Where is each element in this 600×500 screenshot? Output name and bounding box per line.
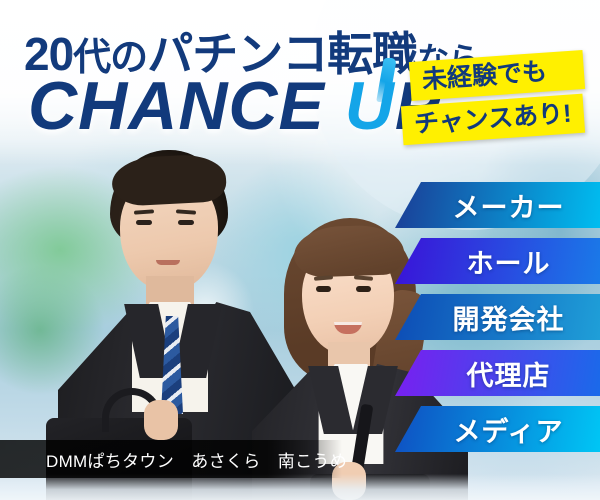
man-mouth [156, 260, 180, 265]
pachinko-career-banner: 20代のパチンコ転職なら CHANCE UP 未経験でも チャンスあり! メーカ… [0, 0, 600, 500]
credit-text: DMMぱちタウン あさくら 南こうめ [0, 447, 347, 472]
category-label-hall: ホール [467, 242, 551, 281]
woman-eye-left [316, 286, 331, 292]
category-button-agency[interactable]: 代理店 [395, 350, 600, 396]
category-button-developer[interactable]: 開発会社 [395, 294, 600, 340]
category-label-maker: メーカー [453, 186, 565, 225]
chance-up-logo: CHANCE UP [28, 72, 441, 140]
category-label-agency: 代理店 [467, 354, 551, 393]
category-list: メーカー ホール 開発会社 代理店 メディア [395, 182, 600, 462]
man-eye-right [178, 220, 194, 225]
badge-no-experience: 未経験でも [409, 50, 585, 101]
man-fringe [111, 153, 227, 207]
logo-text-chance: CHANCE [28, 68, 345, 144]
woman-eye-right [356, 286, 371, 292]
logo-accent-u: U [345, 68, 395, 144]
category-button-hall[interactable]: ホール [395, 238, 600, 284]
highlight-badge-group: 未経験でも チャンスあり! [402, 56, 584, 139]
badge-chance-available: チャンスあり! [401, 94, 585, 146]
category-label-developer: 開発会社 [453, 298, 565, 337]
category-button-maker[interactable]: メーカー [395, 182, 600, 228]
category-label-media: メディア [453, 410, 563, 449]
category-button-media[interactable]: メディア [395, 406, 600, 452]
man-eye-left [136, 220, 152, 225]
man-hand [144, 400, 178, 440]
credit-bar: DMMぱちタウン あさくら 南こうめ [0, 440, 342, 478]
